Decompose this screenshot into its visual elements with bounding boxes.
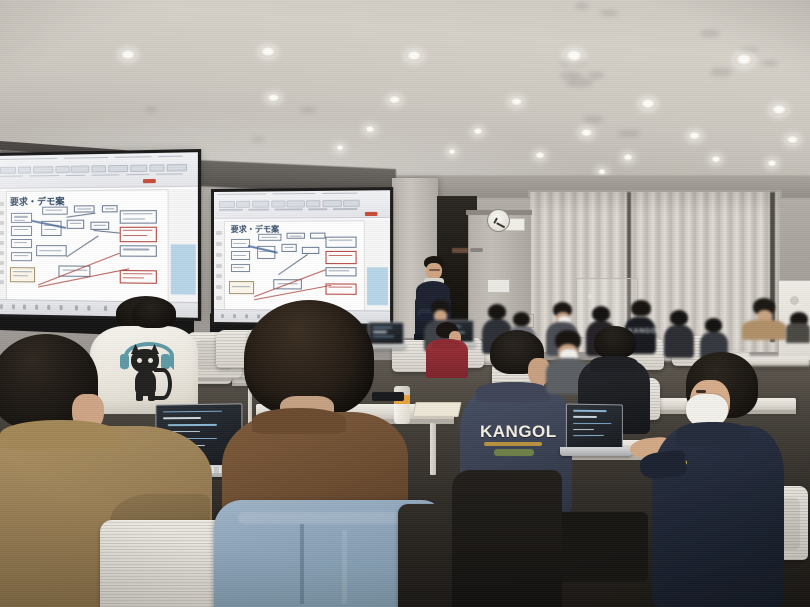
wall-clock: [487, 209, 510, 232]
person-midrow: [664, 310, 694, 358]
denim-seam: [238, 512, 424, 524]
downlight-icon: [510, 98, 523, 107]
chair-dark[interactable]: [452, 470, 562, 607]
backpack: [556, 512, 648, 582]
ceiling-mark: [710, 68, 732, 76]
downlight-icon: [688, 132, 701, 141]
downlight-icon: [267, 94, 280, 103]
denim-fold: [300, 524, 304, 604]
ceiling-mark: [145, 107, 157, 112]
person-back-right-2: [786, 312, 810, 342]
downlight-icon: [473, 128, 483, 135]
downlight-icon: [365, 126, 375, 133]
alcove-trim: [452, 248, 468, 253]
ceiling-mark: [575, 3, 589, 9]
downlight-icon: [260, 47, 276, 58]
ceiling-mark: [588, 72, 604, 79]
person-back-right: [742, 298, 786, 338]
left-projection-screen: 要求・デモ案: [0, 152, 198, 318]
chair[interactable]: [100, 520, 228, 607]
ceiling-mark: [583, 116, 603, 123]
application-ribbon: [0, 152, 198, 188]
downlight-icon: [336, 145, 344, 150]
ceiling-mark: [600, 10, 618, 16]
ceiling-mark: [618, 130, 640, 137]
wall-panel-mark: [588, 294, 593, 299]
whiteboard-mark: [790, 296, 799, 305]
laptop-base: [560, 447, 632, 456]
downlight-icon: [711, 156, 721, 163]
notebook[interactable]: [412, 402, 461, 417]
downlight-icon: [580, 129, 593, 138]
ceiling-mark: [700, 30, 720, 37]
downlight-icon: [767, 160, 777, 167]
denim-fold: [342, 530, 347, 604]
ceiling-mark: [565, 78, 593, 87]
ceiling-mark: [740, 47, 758, 53]
downlight-icon: [448, 149, 456, 154]
downlight-icon: [771, 105, 787, 116]
diagram-canvas: 要求・デモ案: [224, 220, 365, 312]
downlight-icon: [623, 154, 633, 161]
person-left-back: [126, 298, 180, 338]
classroom-scene: 要求・デモ案: [0, 0, 810, 607]
door-sign: [487, 279, 510, 293]
downlight-icon: [640, 99, 656, 110]
person-masked-navy: [652, 352, 784, 607]
kangol-print: KANGOL: [480, 422, 557, 442]
screen-blue-panel: [170, 245, 195, 295]
ceiling-mark: [252, 137, 264, 142]
door-handle[interactable]: [470, 248, 483, 252]
ceiling-mark: [762, 60, 778, 66]
ceiling-mark: [300, 107, 316, 113]
laptop-screen[interactable]: [566, 403, 623, 449]
downlight-icon: [406, 51, 422, 62]
left-screen-application: 要求・デモ案: [0, 152, 198, 318]
downlight-icon: [786, 136, 799, 145]
downlight-icon: [535, 152, 545, 159]
diagram-canvas: 要求・デモ案: [6, 189, 168, 303]
application-ribbon: [214, 190, 390, 219]
downlight-icon: [120, 50, 136, 61]
downlight-icon: [388, 96, 401, 105]
desk-leg: [430, 423, 436, 475]
downlight-icon: [598, 169, 606, 174]
